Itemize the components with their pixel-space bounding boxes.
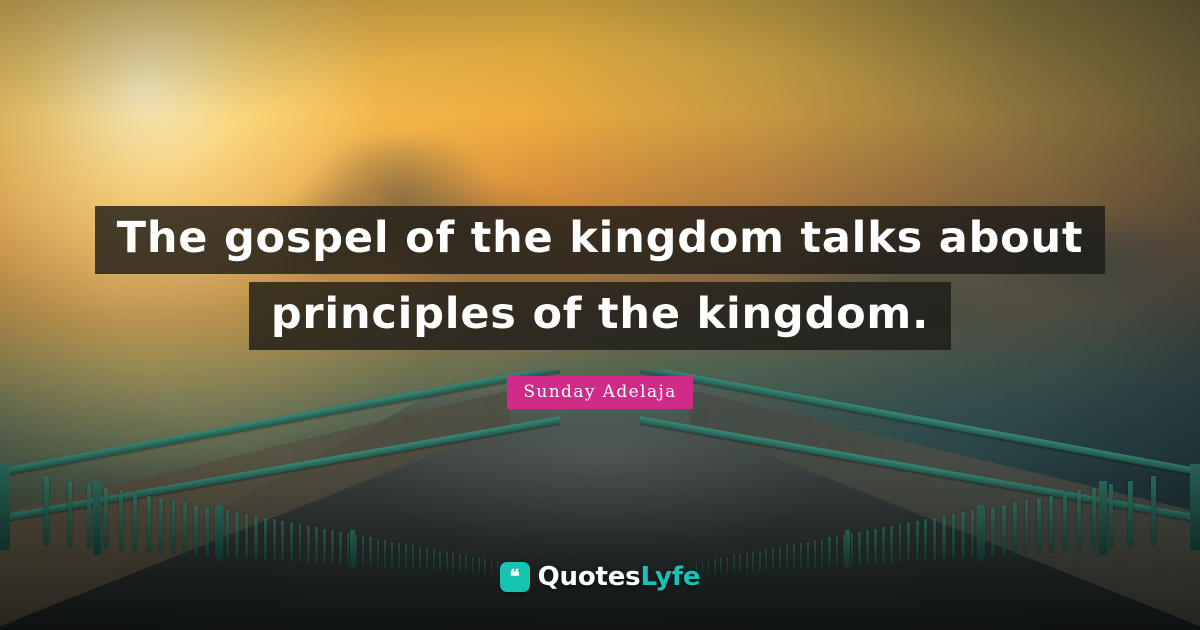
quote-mark-icon: ❝: [500, 562, 530, 592]
quote-author: Sunday Adelaja: [0, 376, 1200, 409]
quote-line-2: principles of the kingdom.: [249, 282, 951, 350]
quote-block: The gospel of the kingdom talks about pr…: [0, 206, 1200, 350]
author-name: Sunday Adelaja: [507, 376, 692, 409]
quote-line-1: The gospel of the kingdom talks about: [95, 206, 1106, 274]
brand-watermark[interactable]: ❝ QuotesLyfe: [0, 562, 1200, 592]
brand-name-part1: Quotes: [538, 562, 641, 592]
quote-card: The gospel of the kingdom talks about pr…: [0, 0, 1200, 630]
brand-name: QuotesLyfe: [538, 562, 701, 592]
brand-name-part2: Lyfe: [640, 562, 700, 592]
